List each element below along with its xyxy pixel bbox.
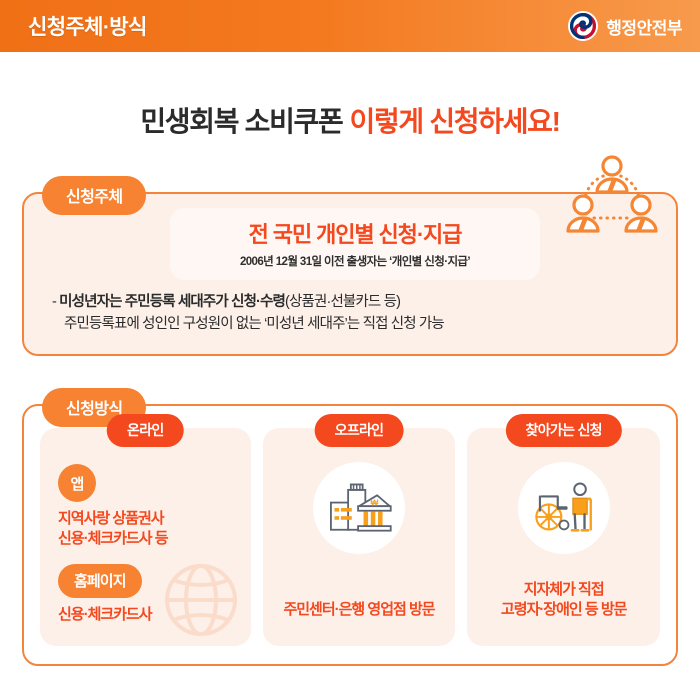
card-badge-outreach: 찾아가는 신청 <box>506 414 622 447</box>
card-caption-outreach: 지자체가 직접 고령자·장애인 등 방문 <box>501 580 627 621</box>
subject-notes: - 미성년자는 주민등록 세대주가 신청·수령(상품권·선불카드 등) 주민등록… <box>52 292 668 336</box>
card-caption-offline: 주민센터·은행 영업점 방문 <box>283 600 434 620</box>
method-card-outreach[interactable]: 찾아가는 신청 <box>467 428 660 646</box>
section-application-subject: 신청주체 <box>22 192 678 356</box>
card-badge-online: 온라인 <box>107 414 184 447</box>
page-header: 신청주체·방식 행정안전부 <box>0 0 700 52</box>
method-card-list: 온라인 앱 지역사랑 상품권사 신용·체크카드사 등 홈페이지 신용·체크카드사 <box>40 428 660 646</box>
header-title: 신청주체·방식 <box>28 11 147 41</box>
subject-headline: 전 국민 개인별 신청·지급 <box>184 217 526 249</box>
online-app-text: 지역사랑 상품권사 신용·체크카드사 등 <box>58 509 251 550</box>
page-title-accent: 이렇게 신청하세요! <box>349 106 559 137</box>
section-badge-subject: 신청주체 <box>42 176 146 215</box>
header-brand: 행정안전부 <box>568 11 682 41</box>
wheelchair-and-elderly-person-icon <box>518 462 610 554</box>
three-people-network-icon <box>558 152 666 244</box>
section-application-method: 신청방식 온라인 앱 지역사랑 상품권사 신용·체크카드사 등 홈페이지 신용·… <box>22 404 678 666</box>
method-card-offline[interactable]: 오프라인 <box>263 428 456 646</box>
bank-and-community-center-icon: ₩ <box>313 462 405 554</box>
card-caption-line1: 주민센터·은행 영업점 방문 <box>283 600 434 620</box>
online-app-text-line1: 지역사랑 상품권사 <box>58 509 251 529</box>
card-badge-offline: 오프라인 <box>315 414 404 447</box>
svg-text:₩: ₩ <box>371 498 379 507</box>
online-home-text: 신용·체크카드사 <box>58 605 251 625</box>
subject-headline-bold: 개인별 신청·지급 <box>316 222 461 247</box>
subject-headline-light: 전 국민 <box>249 222 316 247</box>
note-line: 주민등록표에 성인인 구성원이 없는 ‘미성년 세대주’는 직접 신청 가능 <box>52 314 668 336</box>
note-rest-text: (상품권·선불카드 등) <box>285 294 400 310</box>
note-line: - 미성년자는 주민등록 세대주가 신청·수령(상품권·선불카드 등) <box>52 292 668 314</box>
note-bold-text: 미성년자는 주민등록 세대주가 신청·수령 <box>59 294 285 310</box>
online-app-text-line2: 신용·체크카드사 등 <box>58 529 251 549</box>
subject-subtext: 2006년 12월 31일 이전 출생자는 ‘개인별 신청·지급’ <box>184 253 526 269</box>
page-title-dark: 민생회복 소비쿠폰 <box>140 106 342 137</box>
tag-app: 앱 <box>58 464 96 502</box>
brand-name: 행정안전부 <box>606 14 682 39</box>
card-caption-line1: 지자체가 직접 <box>501 580 627 600</box>
card-caption-line2: 고령자·장애인 등 방문 <box>501 600 627 620</box>
tag-homepage: 홈페이지 <box>58 564 142 598</box>
page-title: 민생회복 소비쿠폰이렇게 신청하세요! <box>0 100 700 140</box>
subject-highlight-box: 전 국민 개인별 신청·지급 2006년 12월 31일 이전 출생자는 ‘개인… <box>170 208 540 280</box>
method-card-online[interactable]: 온라인 앱 지역사랑 상품권사 신용·체크카드사 등 홈페이지 신용·체크카드사 <box>40 428 251 646</box>
taegeuk-logo-icon <box>568 11 598 41</box>
